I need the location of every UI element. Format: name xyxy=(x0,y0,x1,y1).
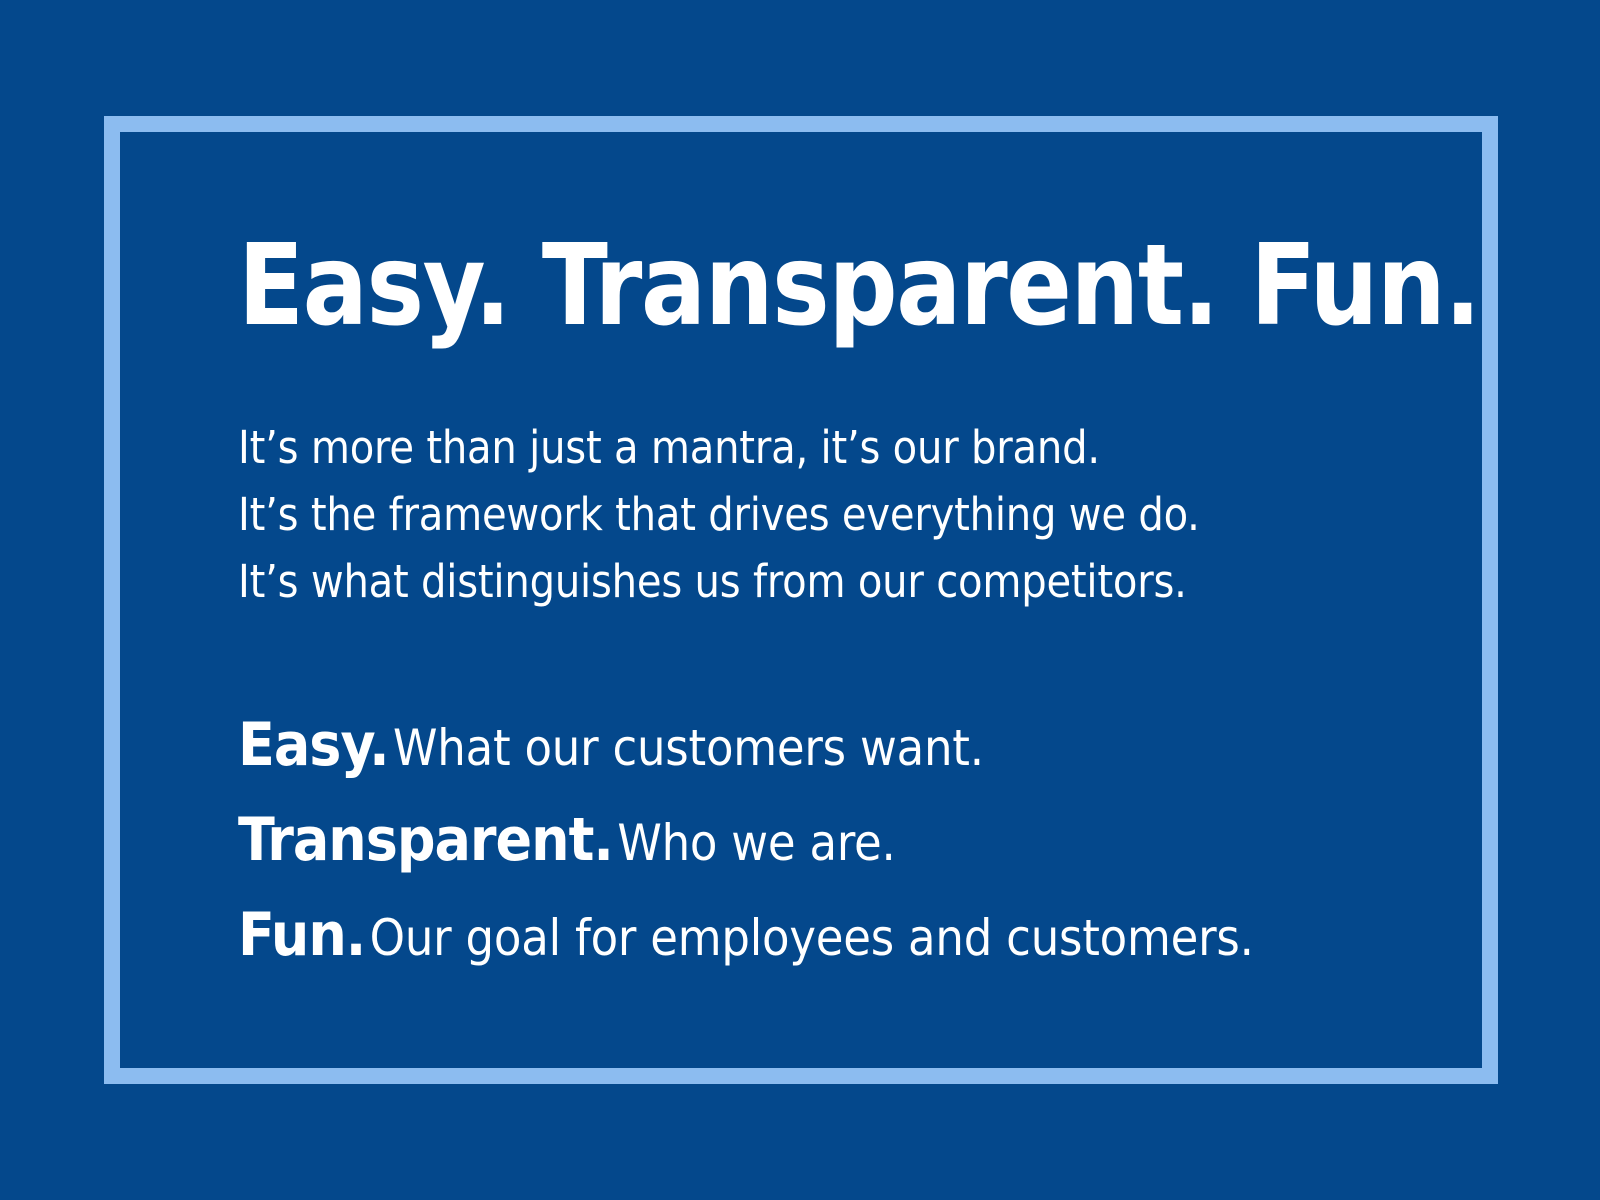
intro-line-3: It’s what distinguishes us from our comp… xyxy=(238,548,1386,615)
pillar-description-fun: Our goal for employees and customers. xyxy=(370,909,1254,967)
pillar-term-transparent: Transparent. xyxy=(238,805,613,875)
slide-canvas: Easy. Transparent. Fun. It’s more than j… xyxy=(0,0,1600,1200)
pillar-item-fun: Fun. Our goal for employees and customer… xyxy=(238,895,1398,990)
intro-line-2: It’s the framework that drives everythin… xyxy=(238,481,1386,548)
pillar-term-fun: Fun. xyxy=(238,900,365,970)
pillar-term-easy: Easy. xyxy=(238,710,389,780)
pillar-item-transparent: Transparent. Who we are. xyxy=(238,800,1398,895)
page-title: Easy. Transparent. Fun. xyxy=(238,230,1352,342)
intro-paragraph: It’s more than just a mantra, it’s our b… xyxy=(238,414,1398,615)
pillar-list: Easy. What our customers want. Transpare… xyxy=(238,705,1398,990)
slide-content: Easy. Transparent. Fun. It’s more than j… xyxy=(238,230,1398,990)
pillar-description-transparent: Who we are. xyxy=(617,814,895,872)
intro-line-1: It’s more than just a mantra, it’s our b… xyxy=(238,414,1386,481)
pillar-description-easy: What our customers want. xyxy=(393,719,984,777)
pillar-item-easy: Easy. What our customers want. xyxy=(238,705,1398,800)
